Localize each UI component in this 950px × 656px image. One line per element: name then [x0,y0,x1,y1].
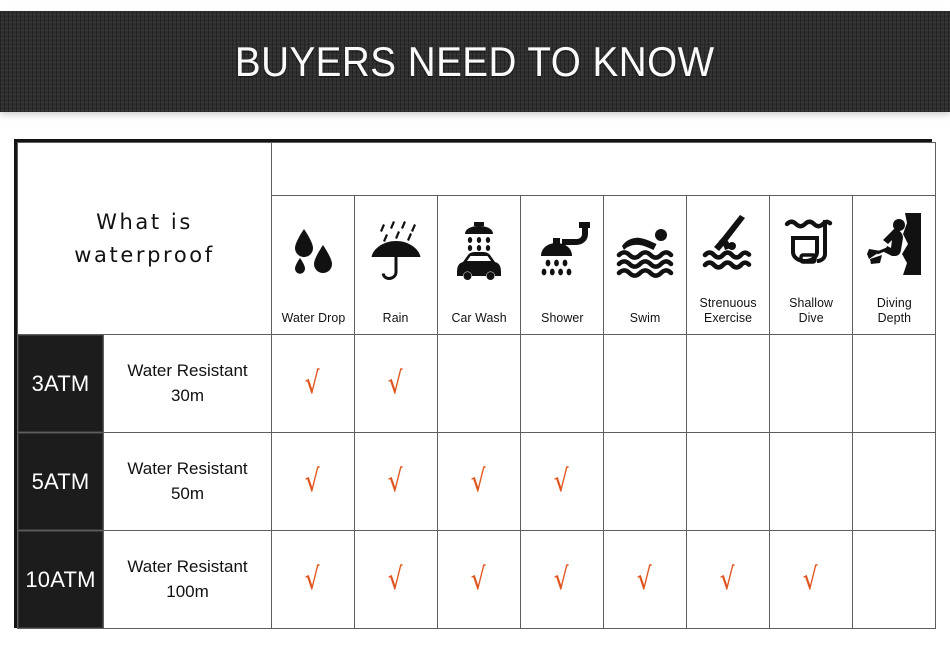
support-cell: √ [355,433,438,531]
page-title: BUYERS NEED TO KNOW [235,38,715,86]
check-icon: √ [471,564,488,595]
check-icon: √ [803,564,820,595]
atm-rating-label: 5ATM [18,433,103,530]
rating-description-cell: Water Resistant 30m [104,335,272,433]
rating-description-cell: Water Resistant 100m [104,531,272,629]
support-cell: √ [604,531,687,629]
table-header-row-1: What is waterproof Conditions Range [18,143,936,196]
column-label: Swim [630,311,661,326]
check-icon: √ [388,564,405,595]
atm-rating-label: 3ATM [18,335,103,432]
conditions-range-header: Conditions Range [272,143,936,196]
check-icon: √ [554,564,571,595]
check-icon: √ [388,466,405,497]
support-cell: √ [355,335,438,433]
scuba-diver-icon [853,196,935,292]
column-header-shower: Shower [521,196,604,335]
column-header-shallow-dive: Shallow Dive [770,196,853,335]
support-cell: √ [438,531,521,629]
conditions-range-label: Conditions Range [513,155,695,183]
car-wash-icon [438,196,520,307]
check-icon: √ [720,564,737,595]
support-cell: √ [770,531,853,629]
support-cell-disabled [521,335,604,433]
rating-description: Water Resistant 100m [104,555,271,604]
support-cell: √ [272,531,355,629]
support-cell-disabled [853,335,936,433]
diver-jump-icon [687,196,769,292]
atm-rating-label: 10ATM [18,531,103,628]
snorkel-mask-icon [770,196,852,292]
table-row: 10ATM Water Resistant 100m √ √ √ √ √ √ √ [18,531,936,629]
table-row: 5ATM Water Resistant 50m √ √ √ √ [18,433,936,531]
atm-rating-cell: 3ATM [18,335,104,433]
support-cell-disabled [604,335,687,433]
support-cell: √ [521,531,604,629]
support-cell-disabled [438,335,521,433]
rating-description-cell: Water Resistant 50m [104,433,272,531]
support-cell-disabled [604,433,687,531]
page-banner: BUYERS NEED TO KNOW [0,11,950,112]
support-cell: √ [272,433,355,531]
column-header-swim: Swim [604,196,687,335]
column-label: Car Wash [451,311,506,326]
column-label: Rain [383,311,409,326]
rating-description: Water Resistant 30m [104,359,271,408]
shower-head-icon [521,196,603,307]
support-cell: √ [272,335,355,433]
atm-rating-cell: 10ATM [18,531,104,629]
swimmer-icon [604,196,686,307]
column-header-rain: Rain [355,196,438,335]
rating-description: Water Resistant 50m [104,457,271,506]
column-label: Strenuous Exercise [699,296,756,326]
support-cell-disabled [770,335,853,433]
support-cell-disabled [687,433,770,531]
check-icon: √ [388,368,405,399]
column-label: Shower [541,311,583,326]
table-row: 3ATM Water Resistant 30m √ √ [18,335,936,433]
column-label: Water Drop [281,311,345,326]
what-is-waterproof-cell: What is waterproof [18,143,272,335]
check-icon: √ [305,466,322,497]
column-label: Shallow Dive [789,296,833,326]
waterproof-rating-table: What is waterproof Conditions Range [14,139,932,628]
support-cell: √ [687,531,770,629]
column-header-strenuous-exercise: Strenuous Exercise [687,196,770,335]
check-icon: √ [471,466,488,497]
what-is-waterproof-label: What is waterproof [18,206,271,271]
support-cell: √ [438,433,521,531]
column-header-car-wash: Car Wash [438,196,521,335]
check-icon: √ [305,368,322,399]
umbrella-rain-icon [355,196,437,307]
water-drop-icon [272,196,354,307]
check-icon: √ [554,466,571,497]
column-header-diving-depth: Diving Depth [853,196,936,335]
comparison-table: What is waterproof Conditions Range [17,142,936,629]
support-cell-disabled [853,433,936,531]
support-cell: √ [521,433,604,531]
check-icon: √ [637,564,654,595]
column-header-water-drop: Water Drop [272,196,355,335]
check-icon: √ [305,564,322,595]
support-cell-disabled [853,531,936,629]
support-cell-disabled [687,335,770,433]
support-cell: √ [355,531,438,629]
column-label: Diving Depth [877,296,912,326]
support-cell-disabled [770,433,853,531]
atm-rating-cell: 5ATM [18,433,104,531]
